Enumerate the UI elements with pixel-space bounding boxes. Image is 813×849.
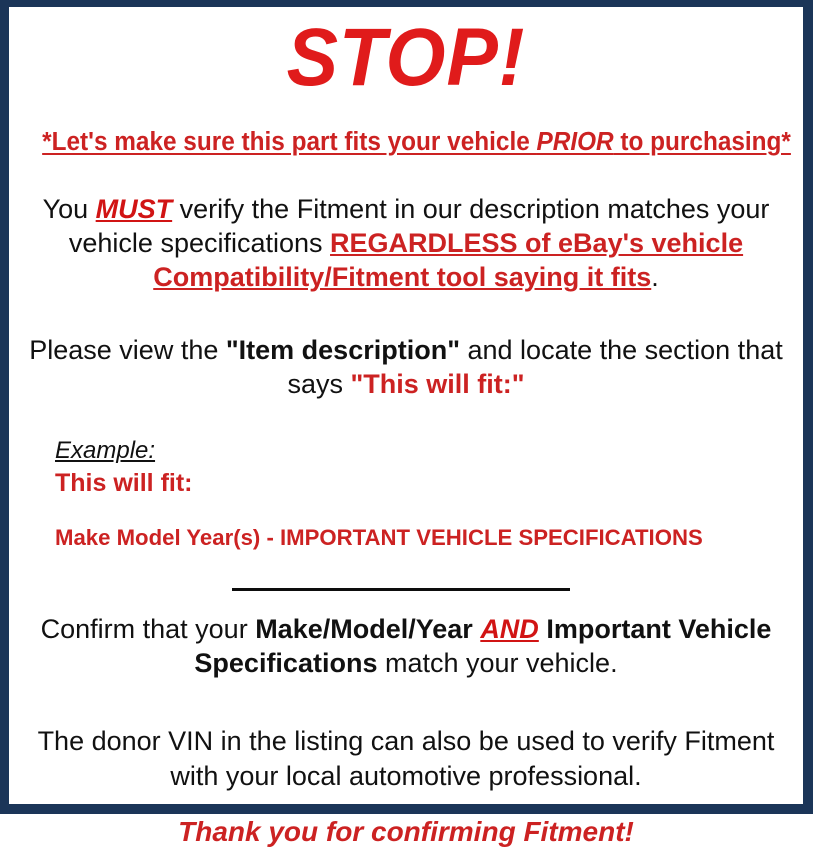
must-verify-paragraph: You MUST verify the Fitment in our descr… bbox=[25, 192, 787, 295]
confirm-part-4: match your vehicle. bbox=[377, 648, 617, 678]
tagline: *Let's make sure this part fits your veh… bbox=[42, 127, 770, 158]
example-label: Example: bbox=[55, 437, 155, 466]
fitment-notice-card: STOP! *Let's make sure this part fits yo… bbox=[0, 0, 813, 814]
horizontal-rule bbox=[232, 588, 570, 591]
tagline-emphasis-prior: PRIOR bbox=[537, 128, 614, 156]
confirm-paragraph: Confirm that your Make/Model/Year AND Im… bbox=[25, 612, 787, 681]
must-part-3: . bbox=[651, 262, 659, 292]
view-part-1: Please view the bbox=[29, 335, 226, 365]
must-part-1: You bbox=[43, 194, 96, 224]
example-block: Example: This will fit: Make Model Year(… bbox=[25, 437, 787, 551]
and-emphasis: AND bbox=[480, 614, 539, 644]
make-model-year-emphasis: Make/Model/Year bbox=[255, 614, 473, 644]
donor-vin-paragraph: The donor VIN in the listing can also be… bbox=[25, 724, 787, 793]
divider-wrapper bbox=[25, 578, 787, 584]
must-emphasis: MUST bbox=[96, 194, 173, 224]
tagline-suffix: to purchasing* bbox=[614, 128, 791, 156]
view-description-paragraph: Please view the "Item description" and l… bbox=[25, 333, 787, 402]
this-will-fit-quote: "This will fit:" bbox=[350, 369, 524, 399]
example-spec-line: Make Model Year(s) - IMPORTANT VEHICLE S… bbox=[55, 524, 776, 551]
confirm-part-1: Confirm that your bbox=[41, 614, 256, 644]
item-description-emphasis: "Item description" bbox=[226, 335, 460, 365]
notice-content: STOP! *Let's make sure this part fits yo… bbox=[9, 7, 803, 804]
tagline-prefix: *Let's make sure this part fits your veh… bbox=[42, 128, 536, 156]
thank-you-line: Thank you for confirming Fitment! bbox=[25, 815, 787, 849]
example-label-row: Example: bbox=[55, 437, 787, 466]
page-title: STOP! bbox=[48, 11, 764, 101]
example-fit-heading: This will fit: bbox=[55, 468, 787, 498]
